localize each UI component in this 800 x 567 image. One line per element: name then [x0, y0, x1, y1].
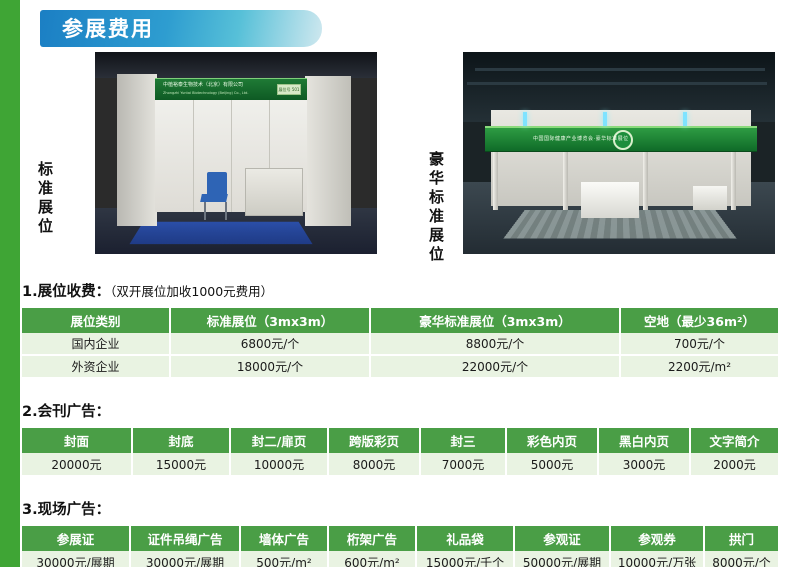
cell-visitor-ticket-price: 10000元/万张 — [610, 551, 704, 567]
cell-text-intro-price: 2000元 — [690, 453, 778, 475]
section-journal-ads: 2.会刊广告： 封面 封底 封二/扉页 跨版彩页 封三 彩色内页 黑白内页 文字… — [22, 402, 778, 475]
cell-spread-color-price: 8000元 — [328, 453, 420, 475]
booth1-panel-divider — [193, 86, 194, 212]
booth1-fascia-banner: 中植裕泰生物技术（北京）有限公司 Zhongzhi Yuntai Biotech… — [155, 78, 307, 100]
header-banner: 参展费用 — [40, 10, 322, 47]
cell-exhibitor-badge-price: 30000元/展期 — [22, 551, 130, 567]
col-bw-inner: 黑白内页 — [598, 428, 690, 453]
section-onsite-ads: 3.现场广告： 参展证 证件吊绳广告 墙体广告 桁架广告 礼品袋 参观证 参观券… — [22, 500, 778, 567]
cell-truss-ad-price: 600元/m² — [328, 551, 416, 567]
col-wall-ad: 墙体广告 — [240, 526, 328, 551]
booth2-display-counter — [581, 182, 639, 218]
cell-front-cover-price: 20000元 — [22, 453, 132, 475]
photo-area: 标准展位 豪华标准展位 中植裕泰生物技术（北京）有限公司 Zhongzhi Yu… — [20, 52, 780, 264]
booth2-fascia-text: 中国国际健康产业博览会·豪华标准展位 — [533, 135, 629, 142]
col-text-intro: 文字简介 — [690, 428, 778, 453]
booth-photo-standard: 中植裕泰生物技术（北京）有限公司 Zhongzhi Yuntai Biotech… — [95, 52, 377, 254]
section-title: 现场广告： — [38, 502, 111, 518]
booth1-counter — [245, 168, 303, 216]
booth1-fascia-text: 中植裕泰生物技术（北京）有限公司 — [163, 82, 243, 89]
cell-foreign-deluxe: 22000元/个 — [370, 355, 620, 377]
cell-visitor-badge-price: 50000元/展期 — [514, 551, 610, 567]
booth2-spotlight-icon — [523, 112, 527, 126]
booth2-ceiling-beam — [475, 68, 765, 71]
col-truss-ad: 桁架广告 — [328, 526, 416, 551]
page-root: 参展费用 标准展位 豪华标准展位 中植裕泰生物技术（北京）有限公司 Zhongz… — [0, 0, 800, 567]
cell-arch-price: 8000元/个 — [704, 551, 778, 567]
col-open-space: 空地（最少36m²） — [620, 308, 778, 333]
booth2-spotlight-icon — [683, 112, 687, 126]
col-spread-color: 跨版彩页 — [328, 428, 420, 453]
booth2-fascia-banner: 中国国际健康产业博览会·豪华标准展位 — [485, 126, 757, 152]
section-onsite-ads-heading: 3.现场广告： — [22, 500, 778, 520]
cell-domestic-label: 国内企业 — [22, 333, 170, 355]
cell-bw-inner-price: 3000元 — [598, 453, 690, 475]
table-row: 30000元/展期 30000元/展期 500元/m² 600元/m² 1500… — [22, 551, 778, 567]
onsite-ads-table: 参展证 证件吊绳广告 墙体广告 桁架广告 礼品袋 参观证 参观券 拱门 3000… — [22, 526, 778, 567]
cell-color-inner-price: 5000元 — [506, 453, 598, 475]
booth2-post — [643, 152, 648, 210]
table-row: 20000元 15000元 10000元 8000元 7000元 5000元 3… — [22, 453, 778, 475]
table-header-row: 展位类别 标准展位（3mx3m） 豪华标准展位（3mx3m） 空地（最少36m²… — [22, 308, 778, 333]
section-number: 2. — [22, 404, 38, 420]
cell-foreign-standard: 18000元/个 — [170, 355, 370, 377]
page-title: 参展费用 — [62, 16, 154, 42]
booth1-chair-leg — [225, 202, 227, 220]
booth2-display-counter — [693, 186, 727, 210]
booth-photo-deluxe: 中国国际健康产业博览会·豪华标准展位 — [463, 52, 775, 254]
col-front-cover: 封面 — [22, 428, 132, 453]
col-deluxe-booth: 豪华标准展位（3mx3m） — [370, 308, 620, 333]
cell-domestic-space: 700元/个 — [620, 333, 778, 355]
journal-ads-table: 封面 封底 封二/扉页 跨版彩页 封三 彩色内页 黑白内页 文字简介 20000… — [22, 428, 778, 475]
cell-wall-ad-price: 500元/m² — [240, 551, 328, 567]
table-row: 外资企业 18000元/个 22000元/个 2200元/m² — [22, 355, 778, 377]
col-color-inner: 彩色内页 — [506, 428, 598, 453]
section-booth-fees: 1.展位收费：（双开展位加收1000元费用） 展位类别 标准展位（3mx3m） … — [22, 282, 778, 377]
booth2-post — [731, 152, 736, 210]
section-number: 1. — [22, 284, 38, 300]
booth1-right-wall — [305, 76, 351, 226]
table-header-row: 参展证 证件吊绳广告 墙体广告 桁架广告 礼品袋 参观证 参观券 拱门 — [22, 526, 778, 551]
col-visitor-ticket: 参观券 — [610, 526, 704, 551]
booth-label-standard: 标准展位 — [38, 160, 64, 236]
section-note: （双开展位加收1000元费用） — [110, 284, 273, 299]
table-header-row: 封面 封底 封二/扉页 跨版彩页 封三 彩色内页 黑白内页 文字简介 — [22, 428, 778, 453]
col-booth-category: 展位类别 — [22, 308, 170, 333]
booth1-chair-leg — [204, 202, 206, 220]
cell-domestic-standard: 6800元/个 — [170, 333, 370, 355]
section-booth-fees-heading: 1.展位收费：（双开展位加收1000元费用） — [22, 282, 778, 302]
col-visitor-badge: 参观证 — [514, 526, 610, 551]
booth2-post — [493, 152, 498, 210]
cell-inside-front-price: 10000元 — [230, 453, 328, 475]
booth2-ceiling-beam — [467, 82, 767, 85]
section-number: 3. — [22, 502, 38, 518]
section-title: 会刊广告： — [38, 404, 111, 420]
col-lanyard-ad: 证件吊绳广告 — [130, 526, 240, 551]
col-inside-back: 封三 — [420, 428, 506, 453]
booth1-chair-seat — [200, 194, 228, 202]
booth2-spotlight-icon — [603, 112, 607, 126]
booth1-panel-divider — [231, 86, 232, 212]
booth1-fascia-subtext: Zhongzhi Yuntai Biotechnology (Beijing) … — [163, 90, 248, 97]
booth-fees-table: 展位类别 标准展位（3mx3m） 豪华标准展位（3mx3m） 空地（最少36m²… — [22, 308, 778, 377]
cell-inside-back-price: 7000元 — [420, 453, 506, 475]
cell-lanyard-ad-price: 30000元/展期 — [130, 551, 240, 567]
booth-label-deluxe: 豪华标准展位 — [429, 150, 455, 264]
section-journal-ads-heading: 2.会刊广告： — [22, 402, 778, 422]
booth1-number-badge: 展位号 501 — [277, 84, 301, 95]
cell-foreign-label: 外资企业 — [22, 355, 170, 377]
booth2-post — [563, 152, 568, 210]
booth1-chair-back — [207, 172, 227, 196]
col-exhibitor-badge: 参展证 — [22, 526, 130, 551]
section-title: 展位收费： — [38, 284, 111, 300]
cell-foreign-space: 2200元/m² — [620, 355, 778, 377]
cell-back-cover-price: 15000元 — [132, 453, 230, 475]
col-gift-bag: 礼品袋 — [416, 526, 514, 551]
col-inside-front: 封二/扉页 — [230, 428, 328, 453]
col-back-cover: 封底 — [132, 428, 230, 453]
left-green-bar — [0, 0, 20, 567]
cell-domestic-deluxe: 8800元/个 — [370, 333, 620, 355]
col-arch: 拱门 — [704, 526, 778, 551]
col-standard-booth: 标准展位（3mx3m） — [170, 308, 370, 333]
table-row: 国内企业 6800元/个 8800元/个 700元/个 — [22, 333, 778, 355]
booth1-left-wall — [117, 74, 157, 226]
cell-gift-bag-price: 15000元/千个 — [416, 551, 514, 567]
